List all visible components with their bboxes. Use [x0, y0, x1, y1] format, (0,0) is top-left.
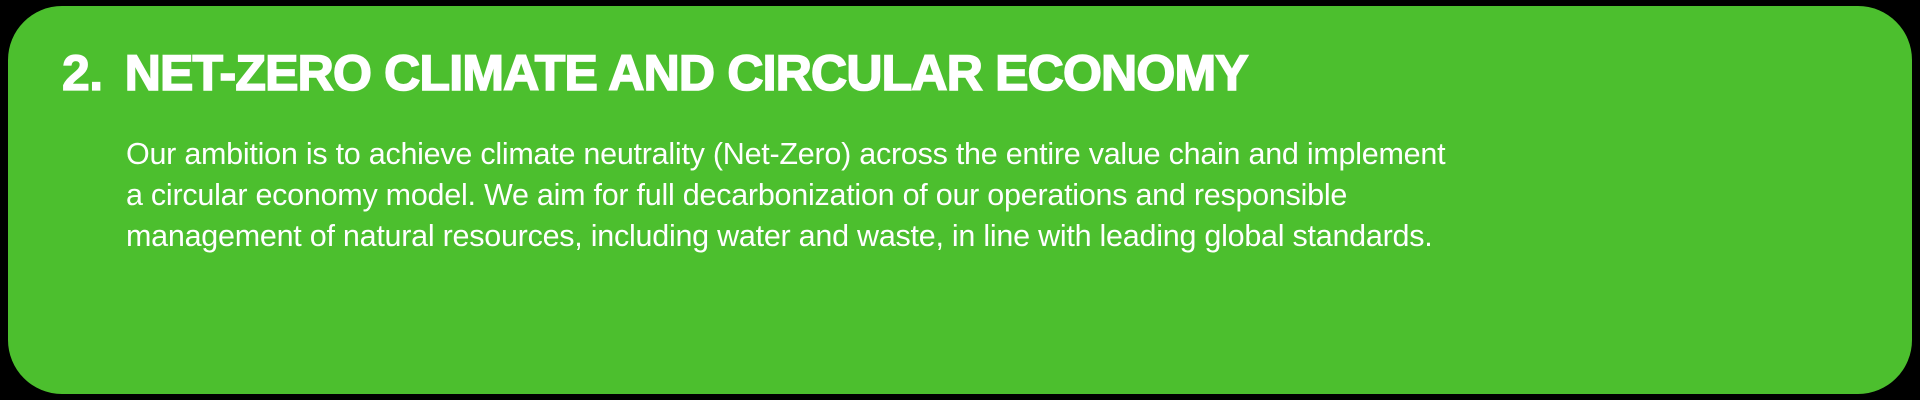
description-line: Our ambition is to achieve climate neutr… [126, 134, 1866, 175]
page-title: NET-ZERO CLIMATE AND CIRCULAR ECONOMY [125, 48, 1248, 98]
description-line: a circular economy model. We aim for ful… [126, 175, 1866, 216]
section-heading: 2. NET-ZERO CLIMATE AND CIRCULAR ECONOMY [62, 48, 1248, 98]
section-description: Our ambition is to achieve climate neutr… [126, 134, 1866, 257]
section-number: 2. [62, 48, 103, 98]
description-line: management of natural resources, includi… [126, 216, 1866, 257]
slide-canvas: 2. NET-ZERO CLIMATE AND CIRCULAR ECONOMY… [0, 0, 1920, 400]
net-zero-section-card: 2. NET-ZERO CLIMATE AND CIRCULAR ECONOMY… [8, 6, 1912, 394]
